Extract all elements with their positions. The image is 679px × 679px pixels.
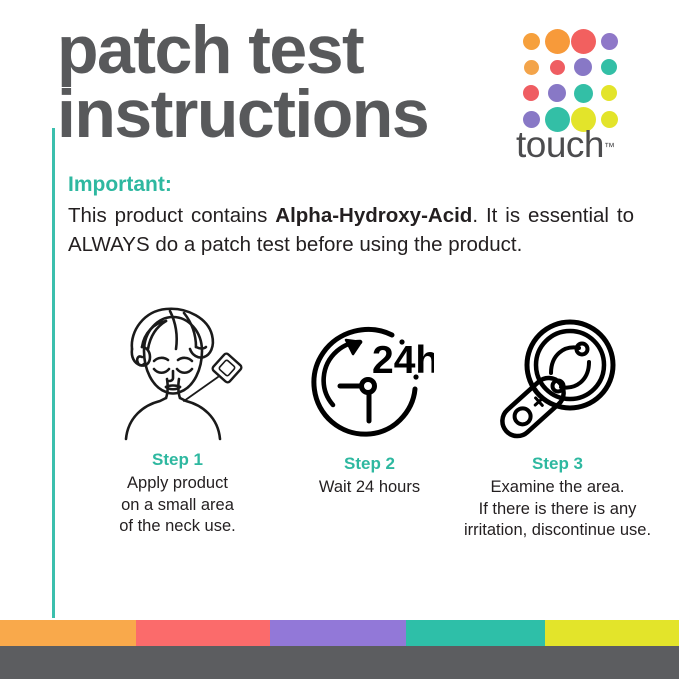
step-item-3: Step 3 Examine the area. If there is the… — [460, 305, 655, 542]
color-bar — [0, 620, 679, 646]
color-bar-segment-purple — [270, 620, 406, 646]
logo-dot — [571, 29, 596, 54]
logo-dot — [548, 84, 566, 102]
logo-dot — [574, 84, 593, 103]
color-bar-segment-yellow — [545, 620, 679, 646]
magnifying-glass-icon — [460, 305, 655, 445]
step-title-2: Step 2 — [272, 453, 467, 475]
footer-bar — [0, 646, 679, 679]
logo-dot — [601, 59, 617, 75]
logo-dot — [550, 60, 565, 75]
important-label: Important: — [68, 171, 634, 198]
face-towel-patch-icon — [80, 305, 275, 445]
step-item-2: 24h Step 2 Wait 24 hours — [272, 305, 467, 499]
step-description-2: Wait 24 hours — [272, 477, 467, 499]
color-bar-segment-teal — [406, 620, 545, 646]
steps-section: Step 1 Apply product on a small area of … — [60, 305, 660, 555]
patch-test-instructions-poster: patch test instructions touch™ Important… — [0, 0, 679, 679]
header: patch test instructions touch™ — [0, 0, 679, 175]
logo-dot — [524, 60, 539, 75]
step-title-3: Step 3 — [460, 453, 655, 475]
logo-dot — [523, 85, 539, 101]
body-text-before: This product contains — [68, 204, 275, 227]
step-description-1: Apply product on a small area of the nec… — [80, 473, 275, 538]
vertical-accent-rule — [52, 128, 55, 618]
step-title-1: Step 1 — [80, 449, 275, 471]
brand-logo: touch™ — [512, 28, 630, 163]
important-notice: Important: This product contains Alpha-H… — [68, 171, 634, 259]
logo-wordmark: touch™ — [516, 126, 634, 164]
title-line-1: patch test — [57, 18, 507, 82]
logo-wordmark-text: touch — [516, 124, 604, 165]
body-text-ingredient: Alpha-Hydroxy-Acid — [275, 204, 472, 227]
logo-dot — [601, 85, 617, 101]
logo-dot — [574, 58, 592, 76]
logo-dot — [601, 33, 618, 50]
step-description-3: Examine the area. If there is there is a… — [460, 477, 655, 542]
trademark-symbol: ™ — [604, 142, 615, 154]
color-bar-segment-coral — [136, 620, 270, 646]
step-item-1: Step 1 Apply product on a small area of … — [80, 305, 275, 538]
logo-dot — [545, 29, 570, 54]
title-line-2: instructions — [57, 82, 507, 146]
color-bar-segment-orange — [0, 620, 136, 646]
page-title: patch test instructions — [57, 18, 507, 146]
important-body-text: This product contains Alpha-Hydroxy-Acid… — [68, 201, 634, 259]
logo-dot-grid — [518, 28, 622, 132]
clock-24h-icon: 24h — [272, 305, 467, 445]
clock-label: 24h — [372, 339, 434, 382]
logo-dot — [523, 33, 540, 50]
